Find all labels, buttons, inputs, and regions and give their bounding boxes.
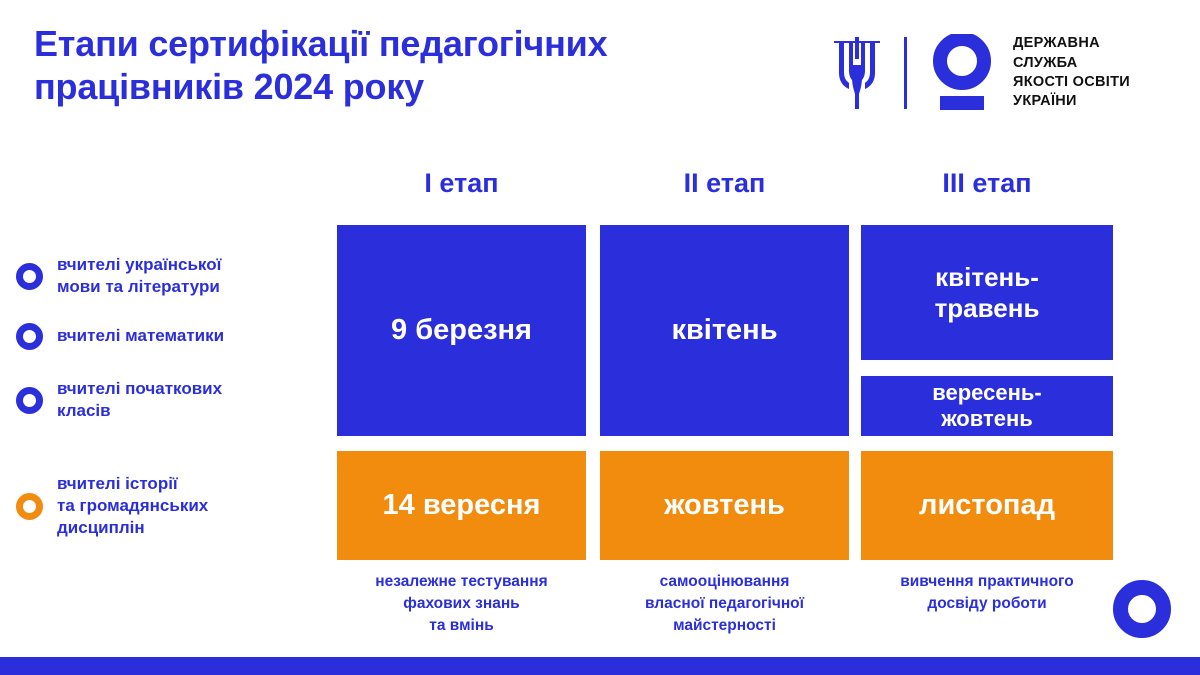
caption-stage-1: незалежне тестування фахових знань та вм… bbox=[333, 571, 590, 637]
ring-bullet-icon bbox=[16, 493, 43, 520]
legend-item-history-civics-teachers[interactable]: вчителі історії та громадянських дисципл… bbox=[16, 473, 336, 539]
legend-item-label: вчителі української мови та літератури bbox=[57, 254, 221, 298]
cell-orange-stage2[interactable]: жовтень bbox=[600, 451, 849, 560]
legend-item-label: вчителі початкових класів bbox=[57, 378, 222, 422]
ukraine-trident-icon bbox=[832, 37, 882, 109]
legend-item-label: вчителі історії та громадянських дисципл… bbox=[57, 473, 208, 539]
organization-name: ДЕРЖАВНА СЛУЖБА ЯКОСТІ ОСВІТИ УКРАЇНИ bbox=[1013, 34, 1130, 111]
legend-item-primary-school-teachers[interactable]: вчителі початкових класів bbox=[16, 378, 336, 422]
stage-header-3: III етап bbox=[861, 168, 1113, 199]
legend-item-math-teachers[interactable]: вчителі математики bbox=[16, 323, 336, 350]
legend-item-ukrainian-language-teachers[interactable]: вчителі української мови та літератури bbox=[16, 254, 336, 298]
sqe-o-mark-icon bbox=[931, 34, 993, 112]
caption-stage-3: вивчення практичного досвіду роботи bbox=[858, 571, 1116, 615]
legend-item-label: вчителі математики bbox=[57, 325, 224, 347]
infographic-canvas: Етапи сертифікації педагогічних працівни… bbox=[0, 0, 1200, 675]
cell-blue-stage1[interactable]: 9 березня bbox=[337, 225, 586, 436]
page-title: Етапи сертифікації педагогічних працівни… bbox=[34, 22, 824, 108]
caption-stage-2: самооцінювання власної педагогічної майс… bbox=[596, 571, 853, 637]
decorative-ring-icon bbox=[1113, 580, 1171, 638]
ring-bullet-icon bbox=[16, 263, 43, 290]
ring-bullet-icon bbox=[16, 387, 43, 414]
cell-blue-stage3-lower[interactable]: вересень- жовтень bbox=[861, 376, 1113, 436]
cell-blue-stage2[interactable]: квітень bbox=[600, 225, 849, 436]
stage-header-2: II етап bbox=[600, 168, 849, 199]
cell-orange-stage1[interactable]: 14 вересня bbox=[337, 451, 586, 560]
bottom-accent-bar bbox=[0, 657, 1200, 675]
brand-divider bbox=[904, 37, 907, 109]
organization-logo: ДЕРЖАВНА СЛУЖБА ЯКОСТІ ОСВІТИ УКРАЇНИ bbox=[832, 27, 1130, 119]
cell-orange-stage3[interactable]: листопад bbox=[861, 451, 1113, 560]
stage-header-1: I етап bbox=[337, 168, 586, 199]
cell-blue-stage3-upper[interactable]: квітень- травень bbox=[861, 225, 1113, 360]
ring-bullet-icon bbox=[16, 323, 43, 350]
